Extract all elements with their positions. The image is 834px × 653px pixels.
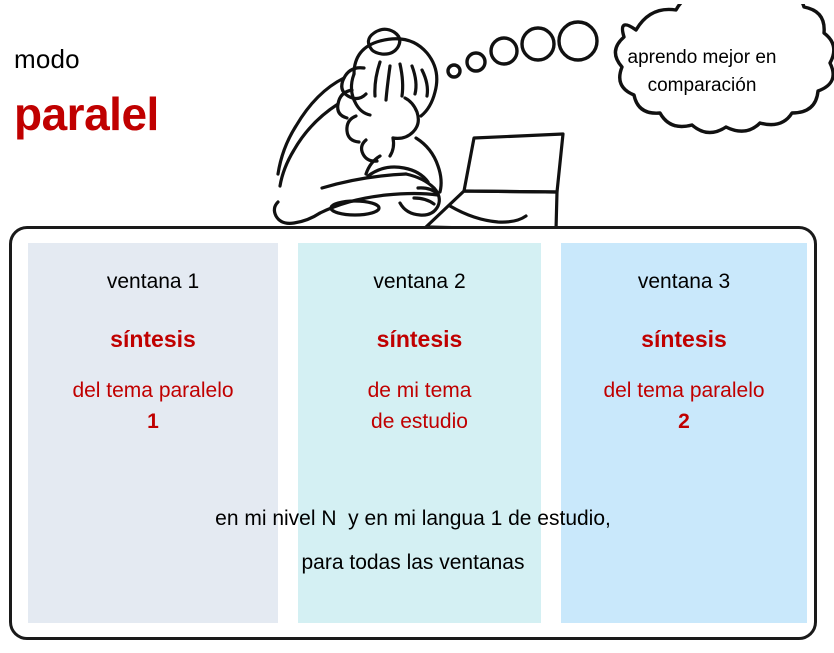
window-description-line2-3: 2 xyxy=(561,406,807,437)
window-description-1: del tema paralelo 1 xyxy=(28,375,278,437)
windows-panel: ventana 1 síntesis del tema paralelo 1 v… xyxy=(9,226,817,640)
window-description-line1-2: de mi tema xyxy=(298,375,541,406)
window-label-3: ventana 3 xyxy=(561,269,807,295)
window-synthesis-2: síntesis xyxy=(298,325,541,353)
window-description-line1-3: del tema paralelo xyxy=(561,375,807,406)
page-title-block: modo paralel xyxy=(14,44,294,142)
window-label-2: ventana 2 xyxy=(298,269,541,295)
title-kicker: modo xyxy=(14,44,294,74)
window-description-line2-1: 1 xyxy=(28,406,278,437)
window-description-line1-1: del tema paralelo xyxy=(28,375,278,406)
thought-bubble: aprendo mejor en comparación xyxy=(440,4,834,189)
panel-caption: en mi nivel N y en mi langua 1 de estudi… xyxy=(15,497,811,585)
window-description-3: del tema paralelo 2 xyxy=(561,375,807,437)
thought-bubble-text: aprendo mejor en comparación xyxy=(598,44,806,100)
window-synthesis-1: síntesis xyxy=(28,325,278,353)
window-description-line2-2: de estudio xyxy=(298,406,541,437)
window-synthesis-3: síntesis xyxy=(561,325,807,353)
window-label-1: ventana 1 xyxy=(28,269,278,295)
window-description-2: de mi tema de estudio xyxy=(298,375,541,437)
page-title: paralel xyxy=(14,86,294,142)
